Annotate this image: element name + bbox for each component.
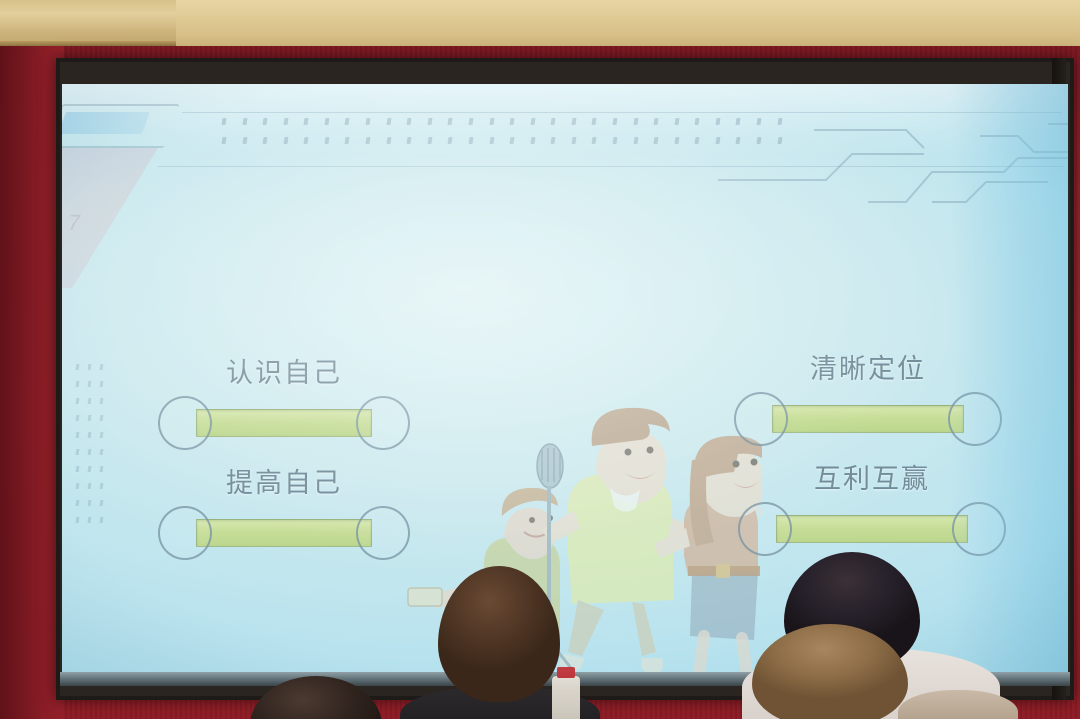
capsule-bar xyxy=(196,409,372,437)
capsule-circle-left xyxy=(158,506,212,560)
red-wall-left-shadow xyxy=(0,46,64,719)
bottle-cap xyxy=(557,667,575,678)
capsule-circle-right xyxy=(356,506,410,560)
capsule-label: 提高自己 xyxy=(158,468,410,498)
capsule-circle-left xyxy=(158,396,212,450)
projected-slide: 7 xyxy=(62,84,1068,676)
capsule-label: 互利互赢 xyxy=(738,464,1006,494)
capsule-circle-right xyxy=(948,392,1002,446)
capsule-bar xyxy=(772,405,964,433)
capsule-circle-right xyxy=(356,396,410,450)
dotted-pattern-band xyxy=(222,118,782,148)
dot-row-top xyxy=(222,118,782,125)
dot-row-bottom xyxy=(222,137,782,144)
capsule-circle-left xyxy=(734,392,788,446)
faded-angular-shape: 7 xyxy=(62,90,204,300)
circuit-trace-lines xyxy=(718,106,1068,226)
capsule-label: 清晰定位 xyxy=(734,354,1002,384)
capsule-label: 认识自己 xyxy=(158,358,410,388)
capsule-bar xyxy=(776,515,968,543)
slide-item-capsule[interactable]: 互利互赢 xyxy=(738,498,1006,560)
capsule-bar xyxy=(196,519,372,547)
slide-item-capsule[interactable]: 提高自己 xyxy=(158,502,410,564)
slide-item-capsule[interactable]: 清晰定位 xyxy=(734,388,1002,450)
projection-room-photo: 7 xyxy=(0,0,1080,719)
capsule-circle-left xyxy=(738,502,792,556)
water-bottle xyxy=(552,676,580,719)
dotted-column xyxy=(76,364,108,534)
slide-item-capsule[interactable]: 认识自己 xyxy=(158,392,410,454)
capsule-circle-right xyxy=(952,502,1006,556)
